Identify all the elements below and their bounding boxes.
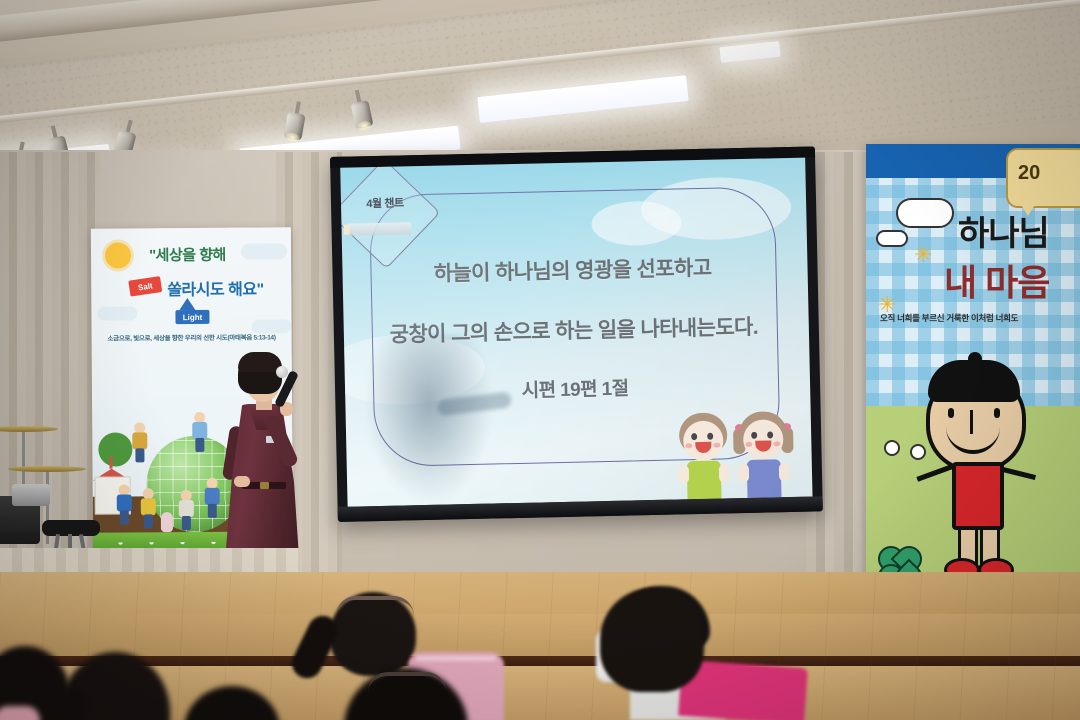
cartoon-child [179,490,194,530]
arrow-icon [179,298,195,310]
flower-icon [884,440,900,456]
cartoon-child [141,488,156,528]
right-banner-subtitle: 오직 너희를 부르신 거룩한 이처럼 너희도 [880,312,1018,324]
cartoon-child [117,484,132,524]
slide-content: 4월 챈트 하늘이 하나님의 영광을 선포하고 궁창이 그의 손으로 하는 일을… [340,158,812,507]
cartoon-child [132,422,147,462]
cartoon-child [192,412,207,452]
cartoon-boy [677,410,731,499]
audience-head [600,588,704,692]
speaker-shadow [362,334,496,507]
slide-cartoon-kids [677,405,799,500]
snare-drum [12,484,50,506]
right-wall-banner: 20 ✳ ✳ 하나님 내 마음 오직 너희를 부르신 거룩한 이처럼 너희도 [866,144,1080,622]
slide-badge-label: 4월 챈트 [349,194,421,212]
salt-badge: Salt [128,276,162,297]
cloud-icon [896,198,954,228]
right-banner-title-2: 내 마음 [944,254,1049,306]
sun-icon [105,242,131,268]
audience-shoulder [0,706,40,720]
cymbal-icon [0,426,58,432]
projection-screen: 4월 챈트 하늘이 하나님의 영광을 선포하고 궁창이 그의 손으로 하는 일을… [330,146,823,521]
bunny-icon [161,512,173,532]
photo-scene: "세상을 향해 Salt 쏠라시도 해요" Light 소금으로, 빛으로, 세… [0,0,1080,720]
left-banner-headline-top: "세상을 향해 [149,244,226,266]
light-badge: Light [175,310,209,324]
cloud-icon [97,306,137,320]
projector-led-artifact [343,225,349,235]
cloud-icon [241,243,287,259]
cartoon-girl [737,409,791,498]
cloud-icon [876,230,908,247]
right-banner-title-1: 하나님 [958,206,1049,255]
star-icon: ✳ [914,244,932,266]
projector-bar-artifact [347,222,411,235]
left-banner-headline-bottom: 쏠라시도 해요" [167,275,264,300]
cymbal-icon [8,466,86,472]
left-banner-subtitle: 소금으로, 빛으로, 세상을 향한 우리의 선한 시도(마태복음 5:13-14… [100,331,284,342]
headband [336,596,414,616]
child-drawing-boy [912,358,1042,588]
year-label: 20 [1018,162,1040,185]
